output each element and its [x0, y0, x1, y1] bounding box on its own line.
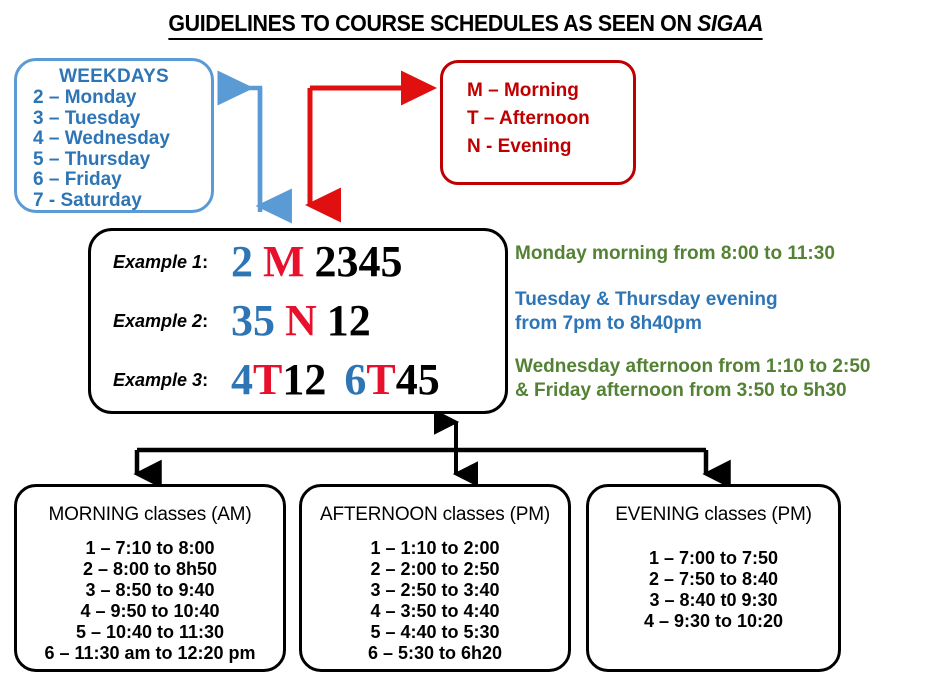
list-item: 5 – 4:40 to 5:30 [302, 622, 568, 643]
list-item: 3 – 2:50 to 3:40 [302, 580, 568, 601]
example-3-shift-code: T [253, 355, 282, 404]
afternoon-timeslot-list: 1 – 1:10 to 2:00 2 – 2:00 to 2:50 3 – 2:… [302, 538, 568, 664]
list-item: 2 – 2:00 to 2:50 [302, 559, 568, 580]
list-item: 2 – Monday [33, 88, 211, 109]
example-2-description-line-1: Tuesday & Thursday evening [515, 288, 778, 312]
list-item: 1 – 1:10 to 2:00 [302, 538, 568, 559]
weekdays-list: 2 – Monday 3 – Tuesday 4 – Wednesday 5 –… [17, 88, 211, 211]
example-1-description: Monday morning from 8:00 to 11:30 [515, 242, 835, 266]
example-2-day-code: 35 [231, 296, 275, 345]
list-item: 3 – 8:50 to 9:40 [17, 580, 283, 601]
shift-legend-box: M – Morning T – Afternoon N - Evening [440, 60, 636, 185]
example-2-label: Example 2: [91, 311, 231, 332]
example-1-code: 2M2345 [231, 240, 403, 284]
example-2-shift-code: N [285, 296, 317, 345]
weekdays-legend-box: WEEKDAYS 2 – Monday 3 – Tuesday 4 – Wedn… [14, 58, 214, 213]
example-3-day-code: 4 [231, 355, 253, 404]
evening-box-title: EVENING classes (PM) [589, 504, 838, 526]
example-row-1: Example 1: 2M2345 [91, 231, 505, 293]
page-title: GUIDELINES TO COURSE SCHEDULES AS SEEN O… [0, 10, 932, 40]
example-3-description-line-2: & Friday afternoon from 3:50 to 5h30 [515, 379, 870, 403]
afternoon-box-title: AFTERNOON classes (PM) [302, 504, 568, 526]
timeslot-connector-arrows [137, 422, 706, 474]
example-2-slot-code: 12 [327, 296, 371, 345]
example-3-day-code-2: 6 [344, 355, 366, 404]
example-3-description-line-1: Wednesday afternoon from 1:10 to 2:50 [515, 355, 870, 379]
list-item: M – Morning [467, 77, 633, 105]
example-3-description: Wednesday afternoon from 1:10 to 2:50 & … [515, 355, 870, 403]
list-item: 5 – Thursday [33, 150, 211, 171]
morning-classes-box: MORNING classes (AM) 1 – 7:10 to 8:00 2 … [14, 484, 286, 672]
example-1-label: Example 1: [91, 252, 231, 273]
list-item: 1 – 7:10 to 8:00 [17, 538, 283, 559]
list-item: 4 – 9:50 to 10:40 [17, 601, 283, 622]
list-item: 6 – 5:30 to 6h20 [302, 643, 568, 664]
list-item: 6 – Friday [33, 170, 211, 191]
list-item: 3 – 8:40 t0 9:30 [589, 590, 838, 611]
list-item: T – Afternoon [467, 105, 633, 133]
list-item: 2 – 7:50 to 8:40 [589, 569, 838, 590]
page-title-main: GUIDELINES TO COURSE SCHEDULES AS SEEN O… [169, 10, 698, 36]
evening-timeslot-list: 1 – 7:00 to 7:50 2 – 7:50 to 8:40 3 – 8:… [589, 548, 838, 632]
schedule-guidelines-diagram: GUIDELINES TO COURSE SCHEDULES AS SEEN O… [0, 0, 932, 684]
list-item: 4 – 9:30 to 10:20 [589, 611, 838, 632]
example-1-slot-code: 2345 [315, 237, 403, 286]
example-row-2: Example 2: 35N12 [91, 290, 505, 352]
example-3-slot-code-2: 45 [396, 355, 440, 404]
example-3-shift-code-2: T [366, 355, 395, 404]
shift-connector-arrow [310, 88, 432, 205]
list-item: 1 – 7:00 to 7:50 [589, 548, 838, 569]
list-item: N - Evening [467, 133, 633, 161]
morning-timeslot-list: 1 – 7:10 to 8:00 2 – 8:00 to 8h50 3 – 8:… [17, 538, 283, 664]
list-item: 6 – 11:30 am to 12:20 pm [17, 643, 283, 664]
weekdays-connector-arrow [222, 88, 260, 212]
evening-classes-box: EVENING classes (PM) 1 – 7:00 to 7:50 2 … [586, 484, 841, 672]
list-item: 4 – 3:50 to 4:40 [302, 601, 568, 622]
example-1-day-code: 2 [231, 237, 253, 286]
examples-box: Example 1: 2M2345 Example 2: 35N12 Examp… [88, 228, 508, 414]
list-item: 3 – Tuesday [33, 109, 211, 130]
list-item: 7 - Saturday [33, 191, 211, 212]
example-2-code: 35N12 [231, 299, 371, 343]
example-row-3: Example 3: 4T126T45 [91, 349, 505, 411]
example-2-description: Tuesday & Thursday evening from 7pm to 8… [515, 288, 778, 336]
shift-list: M – Morning T – Afternoon N - Evening [443, 63, 633, 161]
weekdays-heading: WEEKDAYS [17, 66, 211, 88]
morning-box-title: MORNING classes (AM) [17, 504, 283, 526]
page-title-system: SIGAA [697, 10, 763, 36]
list-item: 4 – Wednesday [33, 129, 211, 150]
list-item: 5 – 10:40 to 11:30 [17, 622, 283, 643]
example-1-shift-code: M [263, 237, 305, 286]
page-title-text: GUIDELINES TO COURSE SCHEDULES AS SEEN O… [169, 10, 764, 40]
example-3-label: Example 3: [91, 370, 231, 391]
afternoon-classes-box: AFTERNOON classes (PM) 1 – 1:10 to 2:00 … [299, 484, 571, 672]
list-item: 2 – 8:00 to 8h50 [17, 559, 283, 580]
example-3-code: 4T126T45 [231, 358, 440, 402]
example-3-slot-code: 12 [282, 355, 326, 404]
example-2-description-line-2: from 7pm to 8h40pm [515, 312, 778, 336]
